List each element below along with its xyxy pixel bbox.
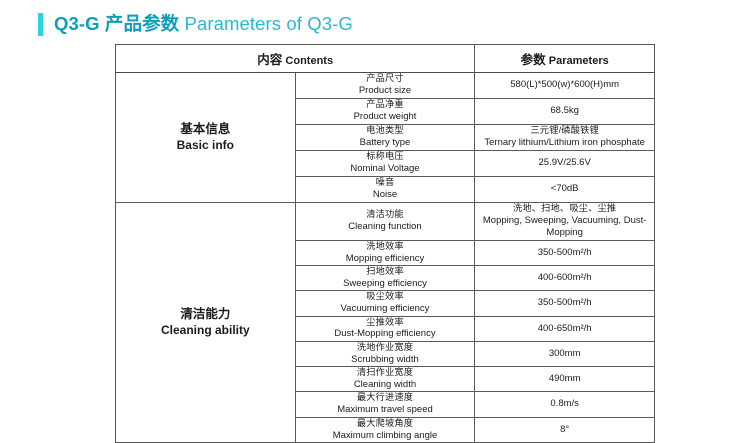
item-noise-en: Noise xyxy=(296,189,475,201)
item-mopping-efficiency-cn: 洗地效率 xyxy=(296,241,475,253)
value-mopping-efficiency: 350-500m²/h xyxy=(475,240,655,265)
group-label-basic-info: 基本信息 Basic info xyxy=(116,73,296,203)
item-nominal-voltage-cn: 标称电压 xyxy=(296,151,475,163)
value-vacuuming-efficiency: 350-500m²/h xyxy=(475,291,655,316)
item-maximum-climbing-angle: 最大爬坡角度 Maximum climbing angle xyxy=(295,417,475,442)
table-body: 基本信息 Basic info 产品尺寸 Product size 580(L)… xyxy=(116,73,655,443)
item-maximum-climbing-angle-cn: 最大爬坡角度 xyxy=(296,418,475,430)
group-label-cleaning-ability: 清洁能力 Cleaning ability xyxy=(116,203,296,443)
group-label-cleaning-ability-en: Cleaning ability xyxy=(116,323,295,339)
column-header-parameters-en: Parameters xyxy=(549,55,609,67)
value-cleaning-function-en: Mopping, Sweeping, Vacuuming, Dust-Moppi… xyxy=(475,215,654,240)
item-dust-mopping-efficiency: 尘推效率 Dust-Mopping efficiency xyxy=(295,316,475,341)
item-scrubbing-width-cn: 洗地作业宽度 xyxy=(296,342,475,354)
group-label-basic-info-cn: 基本信息 xyxy=(116,121,295,138)
value-cleaning-width-text: 490mm xyxy=(475,373,654,385)
item-cleaning-width-en: Cleaning width xyxy=(296,379,475,391)
item-vacuuming-efficiency-en: Vacuuming efficiency xyxy=(296,303,475,315)
item-cleaning-function-en: Cleaning function xyxy=(296,221,475,233)
table-row: 基本信息 Basic info 产品尺寸 Product size 580(L)… xyxy=(116,73,655,99)
column-header-contents: 内容 Contents xyxy=(116,45,475,73)
item-battery-type: 电池类型 Battery type xyxy=(295,125,475,151)
group-label-cleaning-ability-cn: 清洁能力 xyxy=(116,306,295,323)
value-sweeping-efficiency: 400-600m²/h xyxy=(475,265,655,290)
item-cleaning-width: 清扫作业宽度 Cleaning width xyxy=(295,367,475,392)
page-title-en: Parameters of Q3-G xyxy=(179,13,353,34)
item-cleaning-width-cn: 清扫作业宽度 xyxy=(296,367,475,379)
item-maximum-travel-speed: 最大行进速度 Maximum travel speed xyxy=(295,392,475,417)
item-product-weight-cn: 产品净重 xyxy=(296,99,475,111)
value-battery-type: 三元锂/磷酸铁锂 Ternary lithium/Lithium iron ph… xyxy=(475,125,655,151)
column-header-parameters-cn: 参数 xyxy=(521,53,546,67)
value-dust-mopping-efficiency: 400-650m²/h xyxy=(475,316,655,341)
item-vacuuming-efficiency-cn: 吸尘效率 xyxy=(296,291,475,303)
value-noise-text: <70dB xyxy=(475,183,654,195)
value-cleaning-width: 490mm xyxy=(475,367,655,392)
item-sweeping-efficiency-cn: 扫地效率 xyxy=(296,266,475,278)
table-row: 清洁能力 Cleaning ability 清洁功能 Cleaning func… xyxy=(116,203,655,241)
value-product-size-text: 580(L)*500(w)*600(H)mm xyxy=(475,79,654,91)
page-title: Q3-G 产品参数 Parameters of Q3-G xyxy=(38,11,353,37)
value-battery-type-cn: 三元锂/磷酸铁锂 xyxy=(475,125,654,137)
item-dust-mopping-efficiency-cn: 尘推效率 xyxy=(296,317,475,329)
group-label-basic-info-en: Basic info xyxy=(116,138,295,154)
item-maximum-climbing-angle-en: Maximum climbing angle xyxy=(296,430,475,442)
value-maximum-travel-speed: 0.8m/s xyxy=(475,392,655,417)
item-product-size-en: Product size xyxy=(296,85,475,97)
value-mopping-efficiency-text: 350-500m²/h xyxy=(475,247,654,259)
page-title-cn: Q3-G 产品参数 xyxy=(54,13,179,34)
item-nominal-voltage: 标称电压 Nominal Voltage xyxy=(295,151,475,177)
item-product-weight-en: Product weight xyxy=(296,111,475,123)
item-product-size-cn: 产品尺寸 xyxy=(296,73,475,85)
accent-bar-icon xyxy=(38,13,43,36)
value-battery-type-en: Ternary lithium/Lithium iron phosphate xyxy=(475,137,654,149)
value-sweeping-efficiency-text: 400-600m²/h xyxy=(475,272,654,284)
column-header-parameters: 参数 Parameters xyxy=(475,45,655,73)
value-dust-mopping-efficiency-text: 400-650m²/h xyxy=(475,323,654,335)
specifications-table: 内容 Contents 参数 Parameters 基本信息 Basic inf… xyxy=(115,44,655,443)
value-maximum-climbing-angle: 8° xyxy=(475,417,655,442)
value-product-weight-text: 68.5kg xyxy=(475,105,654,117)
value-maximum-climbing-angle-text: 8° xyxy=(475,424,654,436)
item-mopping-efficiency-en: Mopping efficiency xyxy=(296,253,475,265)
column-header-contents-en: Contents xyxy=(285,55,333,67)
value-product-weight: 68.5kg xyxy=(475,99,655,125)
value-nominal-voltage: 25.9V/25.6V xyxy=(475,151,655,177)
item-product-size: 产品尺寸 Product size xyxy=(295,73,475,99)
item-mopping-efficiency: 洗地效率 Mopping efficiency xyxy=(295,240,475,265)
item-cleaning-function-cn: 清洁功能 xyxy=(296,209,475,221)
item-nominal-voltage-en: Nominal Voltage xyxy=(296,163,475,175)
value-noise: <70dB xyxy=(475,177,655,203)
value-cleaning-function-cn: 洗地、扫地、吸尘、尘推 xyxy=(475,203,654,215)
item-maximum-travel-speed-cn: 最大行进速度 xyxy=(296,392,475,404)
item-sweeping-efficiency: 扫地效率 Sweeping efficiency xyxy=(295,265,475,290)
item-scrubbing-width-en: Scrubbing width xyxy=(296,354,475,366)
value-vacuuming-efficiency-text: 350-500m²/h xyxy=(475,297,654,309)
value-product-size: 580(L)*500(w)*600(H)mm xyxy=(475,73,655,99)
item-product-weight: 产品净重 Product weight xyxy=(295,99,475,125)
item-noise-cn: 噪音 xyxy=(296,177,475,189)
item-maximum-travel-speed-en: Maximum travel speed xyxy=(296,404,475,416)
value-cleaning-function: 洗地、扫地、吸尘、尘推 Mopping, Sweeping, Vacuuming… xyxy=(475,203,655,241)
value-nominal-voltage-text: 25.9V/25.6V xyxy=(475,157,654,169)
item-dust-mopping-efficiency-en: Dust-Mopping efficiency xyxy=(296,328,475,340)
item-scrubbing-width: 洗地作业宽度 Scrubbing width xyxy=(295,341,475,366)
column-header-contents-cn: 内容 xyxy=(257,53,282,67)
item-battery-type-en: Battery type xyxy=(296,137,475,149)
value-scrubbing-width-text: 300mm xyxy=(475,348,654,360)
table-header-row: 内容 Contents 参数 Parameters xyxy=(116,45,655,73)
value-scrubbing-width: 300mm xyxy=(475,341,655,366)
table-header: 内容 Contents 参数 Parameters xyxy=(116,45,655,73)
page-title-text: Q3-G 产品参数 Parameters of Q3-G xyxy=(54,15,353,34)
value-maximum-travel-speed-text: 0.8m/s xyxy=(475,398,654,410)
item-battery-type-cn: 电池类型 xyxy=(296,125,475,137)
item-cleaning-function: 清洁功能 Cleaning function xyxy=(295,203,475,241)
item-sweeping-efficiency-en: Sweeping efficiency xyxy=(296,278,475,290)
item-noise: 噪音 Noise xyxy=(295,177,475,203)
item-vacuuming-efficiency: 吸尘效率 Vacuuming efficiency xyxy=(295,291,475,316)
